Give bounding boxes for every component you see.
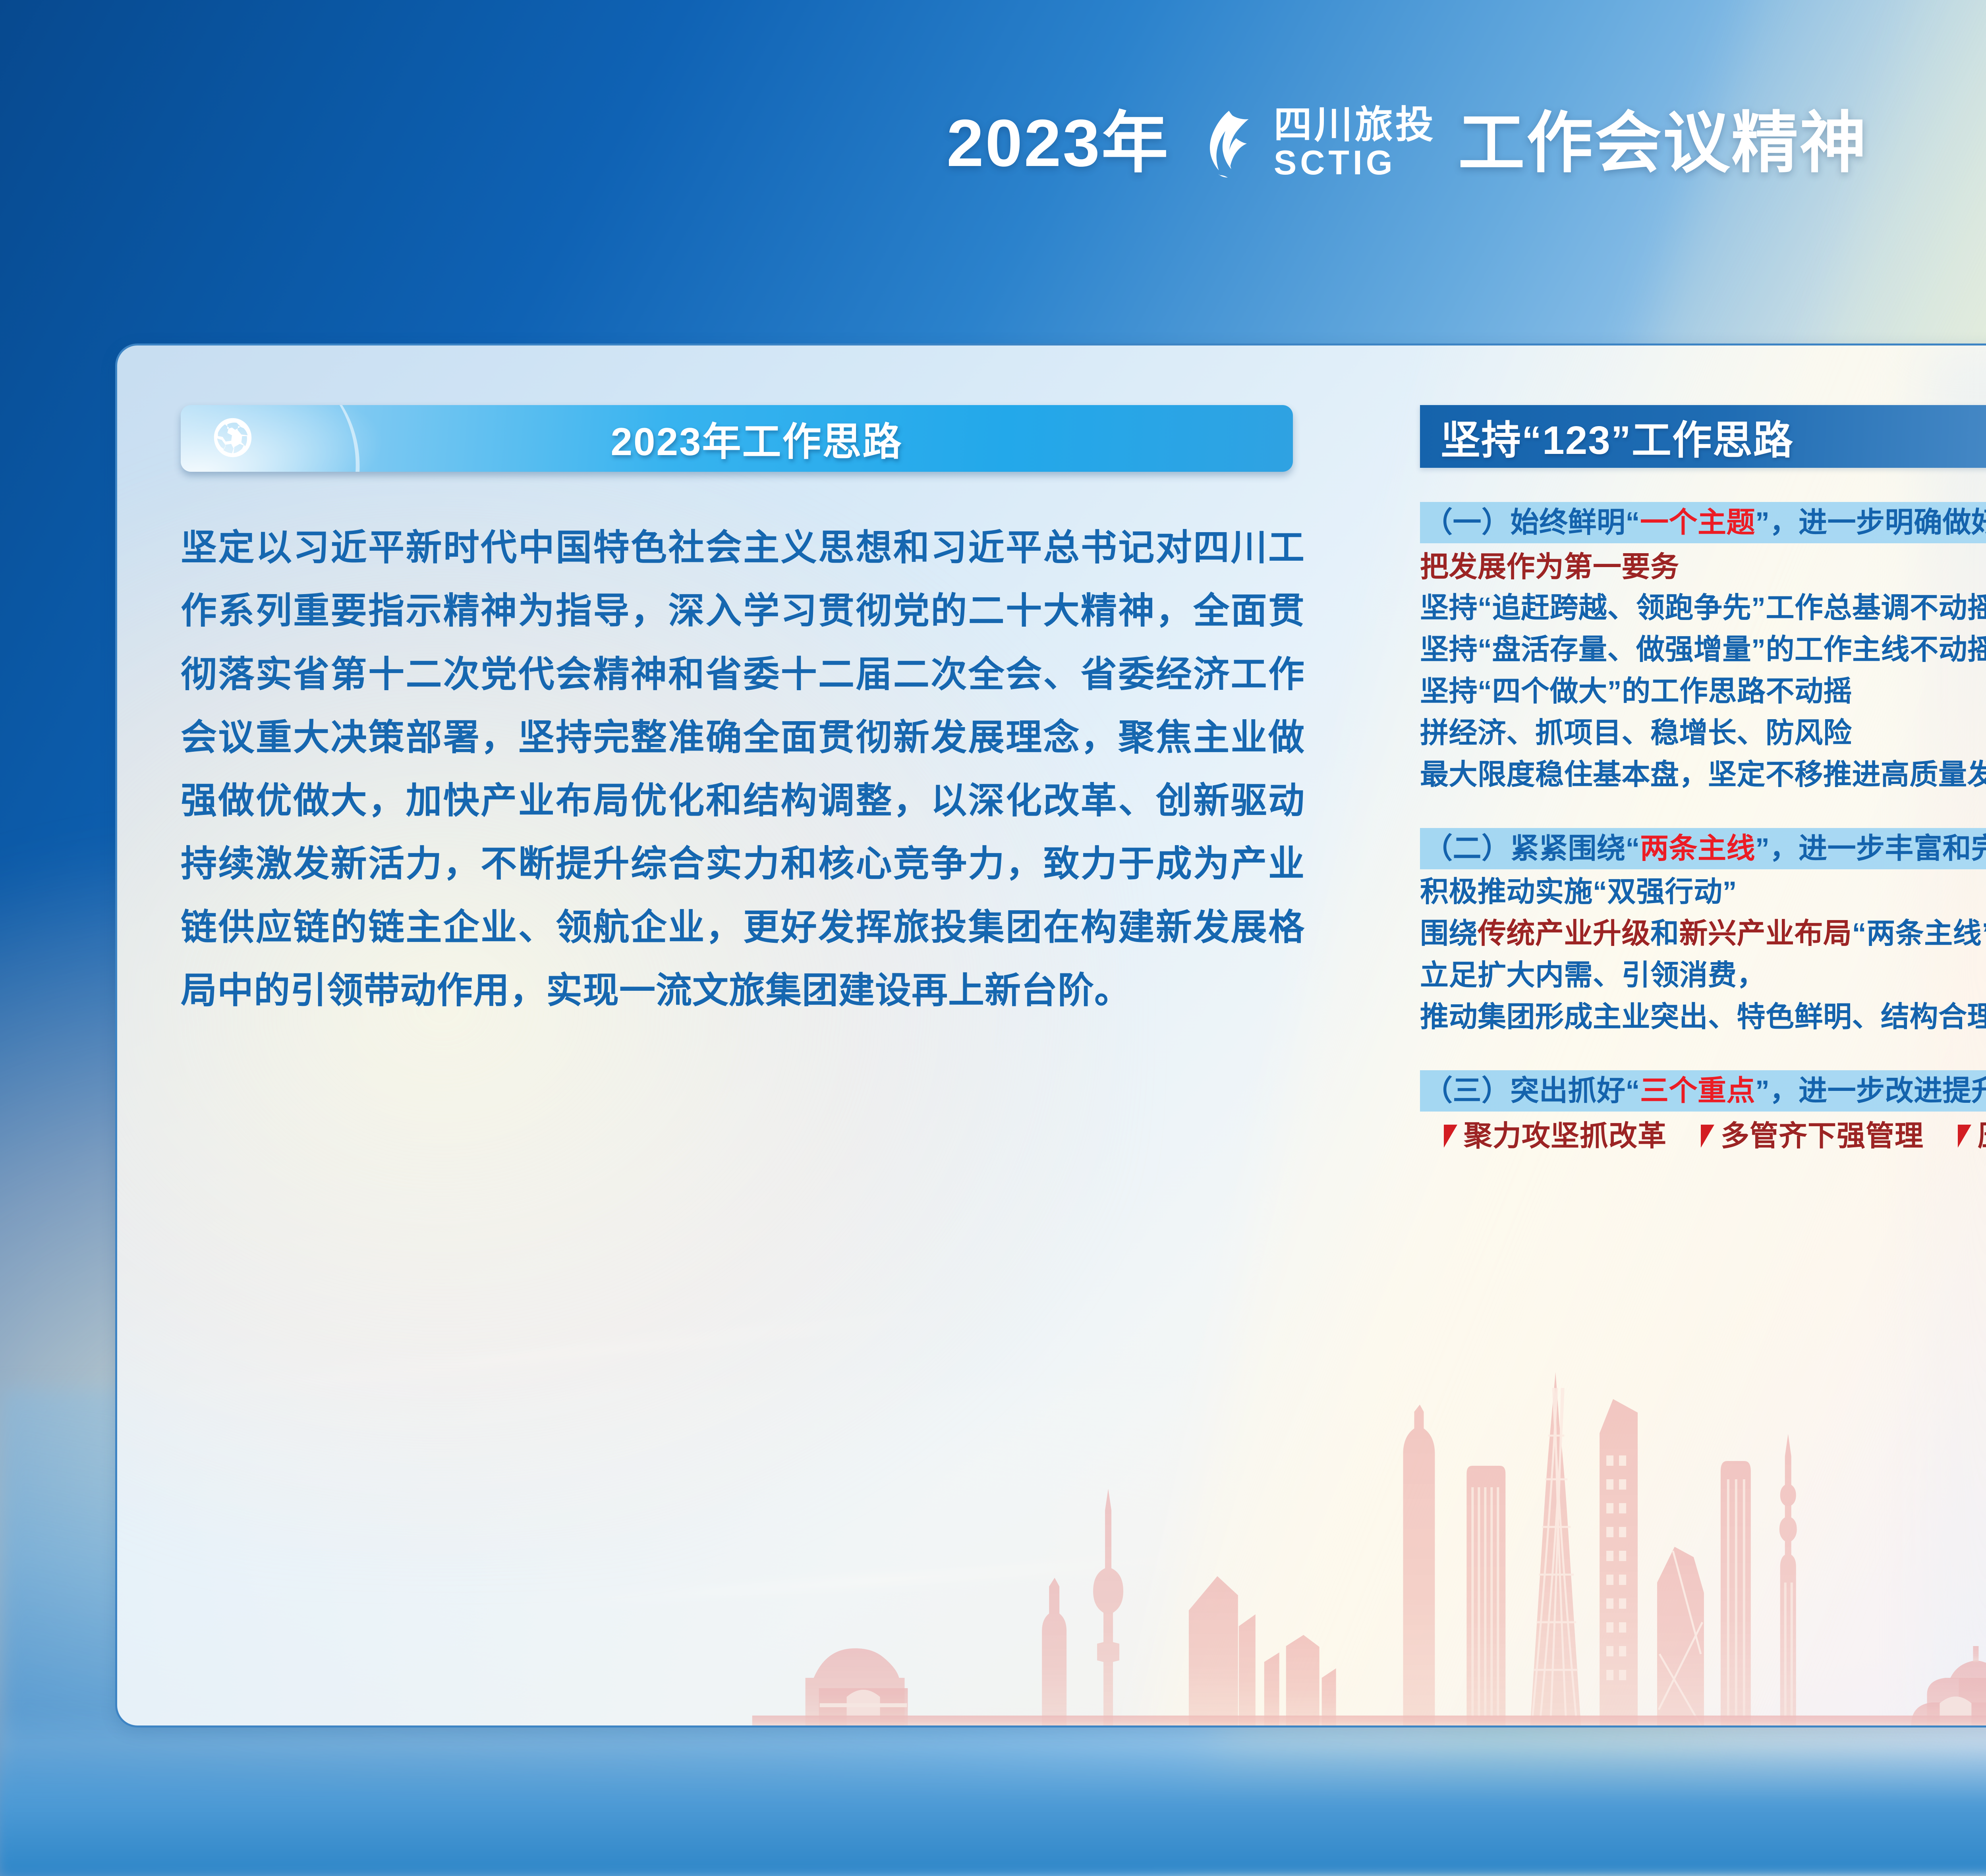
heading-prefix: （一）始终鲜明“ (1424, 507, 1640, 538)
globe-icon (209, 415, 256, 462)
mixed-post: “两条主线” (1852, 918, 1986, 950)
section-one-subheading: 把发展作为第一要务 (1420, 549, 1986, 585)
section-three-heading: （三）突出抓好“三个重点”，进一步改进提升公司治理体系和治理效能 (1420, 1070, 1986, 1112)
section-one-heading-text: （一）始终鲜明“一个主题”，进一步明确做好全年工作的总体要求 (1424, 508, 1986, 537)
mixed-pre: 围绕 (1420, 918, 1478, 950)
triangle-marker-icon (1958, 1125, 1971, 1148)
heading-suffix: ”，进一步丰富和完善集团高质量发展的产业格局 (1755, 833, 1986, 865)
key-point-item: 聚力攻坚抓改革 (1444, 1122, 1667, 1150)
mixed-mid: 和 (1650, 918, 1679, 950)
section-one-line-5: 最大限度稳住基本盘，坚定不移推进高质量发展。 (1420, 756, 1986, 794)
mixed-red-1: 传统产业升级 (1478, 918, 1650, 950)
sctig-globe-logo-icon (1192, 107, 1263, 179)
poster-header: 2023年 四川旅投 SCTIG 工作会议精神 (0, 0, 1986, 302)
section-three: （三）突出抓好“三个重点”，进一步改进提升公司治理体系和治理效能 聚力攻坚抓改革… (1420, 1070, 1986, 1150)
mixed-red-2: 新兴产业布局 (1679, 918, 1852, 950)
background-bottom-wave (0, 1707, 1986, 1876)
section-one: （一）始终鲜明“一个主题”，进一步明确做好全年工作的总体要求 把发展作为第一要务… (1420, 502, 1986, 794)
heading-prefix: （二）紧紧围绕“ (1424, 833, 1640, 865)
key-point-label: 聚力攻坚抓改革 (1464, 1122, 1667, 1150)
logo-chinese-name: 四川旅投 (1274, 106, 1436, 144)
logo-english-name: SCTIG (1274, 146, 1436, 180)
right-panel-banner: 坚持“123”工作思路 (1420, 405, 1986, 468)
key-point-item: 多管齐下强管理 (1701, 1122, 1924, 1150)
section-two-line-1: 积极推动实施“双强行动” (1420, 873, 1986, 911)
brand-logo: 四川旅投 SCTIG (1192, 106, 1436, 180)
section-two-line-3: 推动集团形成主业突出、特色鲜明、结构合理、发展协同的产业格局。 (1420, 998, 1986, 1036)
section-three-key-points: 聚力攻坚抓改革 多管齐下强管理 压实责任保安全 (1420, 1122, 1986, 1150)
heading-highlight: 一个主题 (1640, 507, 1755, 538)
section-two-line-2: 立足扩大内需、引领消费， (1420, 957, 1986, 994)
page-title-year: 2023年 (947, 110, 1170, 176)
section-two-heading-text: （二）紧紧围绕“两条主线”，进一步丰富和完善集团高质量发展的产业格局 (1424, 834, 1986, 863)
right-column: 坚持“123”工作思路 （一）始终鲜明“一个主题”，进一步明确做好全年工作的总体… (1420, 405, 1986, 1150)
key-point-label: 多管齐下强管理 (1721, 1122, 1924, 1150)
section-one-line-3: 坚持“四个做大”的工作思路不动摇 (1420, 673, 1986, 710)
section-three-heading-text: （三）突出抓好“三个重点”，进一步改进提升公司治理体系和治理效能 (1424, 1077, 1986, 1105)
left-panel-title: 2023年工作思路 (256, 410, 1293, 467)
heading-highlight: 两条主线 (1640, 833, 1755, 865)
section-one-line-1: 坚持“追赶跨越、领跑争先”工作总基调不动摇 (1420, 589, 1986, 627)
section-one-line-4: 拼经济、抓项目、稳增长、防风险 (1420, 714, 1986, 752)
heading-suffix: ”，进一步改进提升公司治理体系和治理效能 (1755, 1075, 1986, 1107)
left-panel-banner: 2023年工作思路 (181, 405, 1293, 472)
heading-suffix: ”，进一步明确做好全年工作的总体要求 (1755, 507, 1986, 538)
section-two-heading: （二）紧紧围绕“两条主线”，进一步丰富和完善集团高质量发展的产业格局 (1420, 828, 1986, 869)
key-point-item: 压实责任保安全 (1958, 1122, 1986, 1150)
heading-prefix: （三）突出抓好“ (1424, 1075, 1640, 1107)
right-panel-title: 坚持“123”工作思路 (1420, 408, 1794, 465)
triangle-marker-icon (1444, 1125, 1457, 1148)
section-two-line-mixed: 围绕传统产业升级和新兴产业布局“两条主线” (1420, 915, 1986, 953)
section-one-heading: （一）始终鲜明“一个主题”，进一步明确做好全年工作的总体要求 (1420, 502, 1986, 543)
triangle-marker-icon (1701, 1125, 1714, 1148)
page-title-main: 工作会议精神 (1458, 110, 1868, 176)
left-column: 2023年工作思路 坚定以习近平新时代中国特色社会主义思想和习近平总书记对四川工… (181, 405, 1356, 1022)
section-two: （二）紧紧围绕“两条主线”，进一步丰富和完善集团高质量发展的产业格局 积极推动实… (1420, 828, 1986, 1036)
section-one-line-2: 坚持“盘活存量、做强增量”的工作主线不动摇 (1420, 631, 1986, 669)
heading-highlight: 三个重点 (1640, 1075, 1755, 1107)
content-card: 2023年工作思路 坚定以习近平新时代中国特色社会主义思想和习近平总书记对四川工… (115, 344, 1986, 1727)
key-point-label: 压实责任保安全 (1978, 1122, 1986, 1150)
left-panel-body-text: 坚定以习近平新时代中国特色社会主义思想和习近平总书记对四川工作系列重要指示精神为… (181, 516, 1305, 1022)
